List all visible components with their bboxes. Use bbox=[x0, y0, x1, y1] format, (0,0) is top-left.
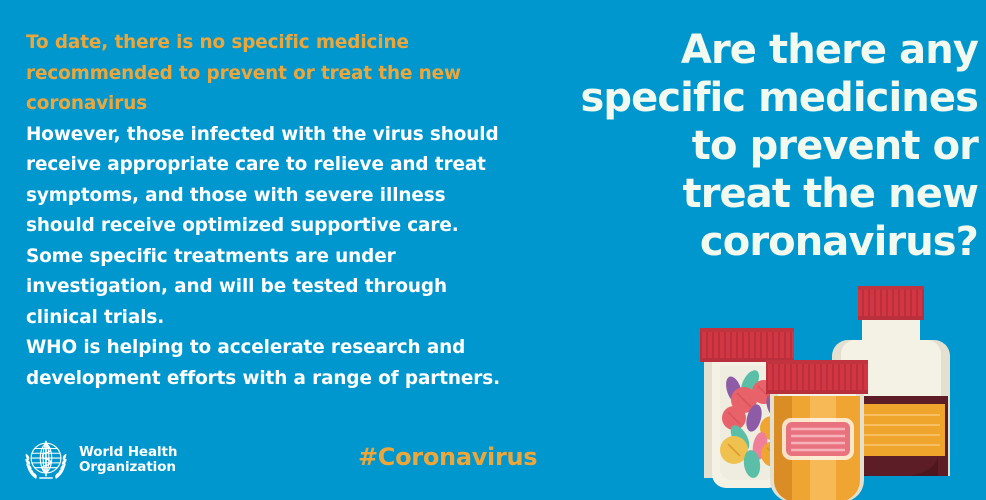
medicine-bottles-graphic bbox=[690, 278, 986, 500]
headline-line: treat the new bbox=[508, 170, 978, 218]
body-paragraph-1: However, those infected with the virus s… bbox=[26, 120, 546, 242]
headline-question: Are there any specific medicines to prev… bbox=[508, 26, 978, 266]
body-line: However, those infected with the virus s… bbox=[26, 120, 546, 151]
headline-line: Are there any bbox=[508, 26, 978, 74]
syrup-bottle-center bbox=[766, 360, 868, 500]
lead-line: recommended to prevent or treat the new bbox=[26, 59, 546, 90]
body-line: Some specific treatments are under bbox=[26, 242, 546, 273]
body-paragraph-2: Some specific treatments are under inves… bbox=[26, 242, 546, 334]
tall-bottle-cap bbox=[858, 286, 924, 320]
hashtag-coronavirus: #Coronavirus bbox=[358, 443, 537, 471]
pill-bottle-cap bbox=[700, 328, 794, 362]
center-bottle-cap bbox=[766, 360, 868, 394]
headline-line: coronavirus? bbox=[508, 218, 978, 266]
body-line: receive appropriate care to relieve and … bbox=[26, 150, 546, 181]
headline-line: to prevent or bbox=[508, 122, 978, 170]
body-line: investigation, and will be tested throug… bbox=[26, 272, 546, 303]
who-emblem-icon bbox=[22, 436, 70, 484]
body-line: symptoms, and those with severe illness bbox=[26, 181, 546, 212]
who-logo: World Health Organization bbox=[22, 436, 177, 484]
body-line: clinical trials. bbox=[26, 303, 546, 334]
medicine-bottles-illustration bbox=[690, 278, 986, 500]
lead-line: coronavirus bbox=[26, 89, 546, 120]
center-bottle-label bbox=[782, 418, 854, 460]
headline-line: specific medicines bbox=[508, 74, 978, 122]
body-line: WHO is helping to accelerate research an… bbox=[26, 333, 546, 364]
poster-canvas: To date, there is no specific medicine r… bbox=[0, 0, 986, 500]
body-line: development efforts with a range of part… bbox=[26, 364, 546, 395]
who-wordmark-line2: Organization bbox=[79, 460, 177, 476]
lead-paragraph: To date, there is no specific medicine r… bbox=[26, 28, 546, 120]
left-text-column: To date, there is no specific medicine r… bbox=[26, 28, 546, 394]
body-line: should receive optimized supportive care… bbox=[26, 211, 546, 242]
who-wordmark: World Health Organization bbox=[79, 445, 177, 476]
body-paragraph-3: WHO is helping to accelerate research an… bbox=[26, 333, 546, 394]
who-wordmark-line1: World Health bbox=[79, 445, 177, 461]
lead-line: To date, there is no specific medicine bbox=[26, 28, 546, 59]
